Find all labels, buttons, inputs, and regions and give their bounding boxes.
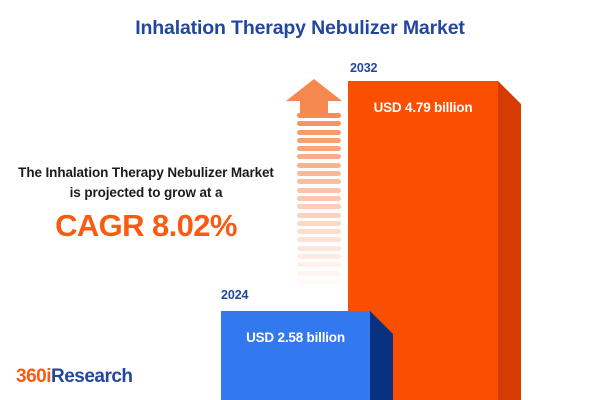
arrow-stripe bbox=[297, 229, 341, 234]
arrow-stripe bbox=[297, 113, 341, 118]
bar-2032-value-label: USD 4.79 billion bbox=[374, 100, 473, 115]
arrow-stripe bbox=[297, 213, 341, 218]
arrow-stripe bbox=[297, 246, 341, 251]
arrow-stripes-icon bbox=[297, 113, 341, 294]
arrow-stripe bbox=[297, 254, 341, 259]
arrow-stripe bbox=[297, 121, 341, 126]
bar-2024-year-label: 2024 bbox=[221, 288, 248, 302]
arrow-stripe bbox=[297, 196, 341, 201]
arrow-stripe bbox=[297, 171, 341, 176]
arrow-stripe bbox=[297, 163, 341, 168]
market-infographic: Inhalation Therapy Nebulizer Market The … bbox=[0, 0, 600, 400]
arrow-stripe bbox=[297, 146, 341, 151]
arrow-stripe bbox=[297, 221, 341, 226]
brand-logo: 360iResearch bbox=[16, 366, 133, 388]
brand-logo-suffix: Research bbox=[51, 366, 133, 387]
arrow-head-icon bbox=[286, 79, 342, 113]
bar-2024-front-face: USD 2.58 billion bbox=[221, 311, 370, 400]
arrow-stripe bbox=[297, 138, 341, 143]
arrow-stripe bbox=[297, 237, 341, 242]
bar-2032-year-label: 2032 bbox=[350, 61, 377, 75]
arrow-stripe bbox=[297, 287, 341, 292]
arrow-stripe bbox=[297, 271, 341, 276]
growth-arrow-icon bbox=[286, 79, 342, 294]
bar-2032-side-face bbox=[498, 81, 521, 400]
cagr-value: CAGR 8.02% bbox=[12, 208, 280, 244]
cagr-description: The Inhalation Therapy Nebulizer Market … bbox=[12, 163, 280, 202]
brand-logo-prefix: 360i bbox=[16, 366, 51, 387]
arrow-stripe bbox=[297, 188, 341, 193]
arrow-stripe bbox=[297, 130, 341, 135]
arrow-stripe bbox=[297, 154, 341, 159]
arrow-stripe bbox=[297, 204, 341, 209]
cagr-callout: The Inhalation Therapy Nebulizer Market … bbox=[12, 163, 280, 244]
arrow-stripe bbox=[297, 262, 341, 267]
bar-2024-value-label: USD 2.58 billion bbox=[246, 330, 345, 345]
page-title: Inhalation Therapy Nebulizer Market bbox=[0, 17, 600, 40]
arrow-stripe bbox=[297, 179, 341, 184]
arrow-stripe bbox=[297, 279, 341, 284]
